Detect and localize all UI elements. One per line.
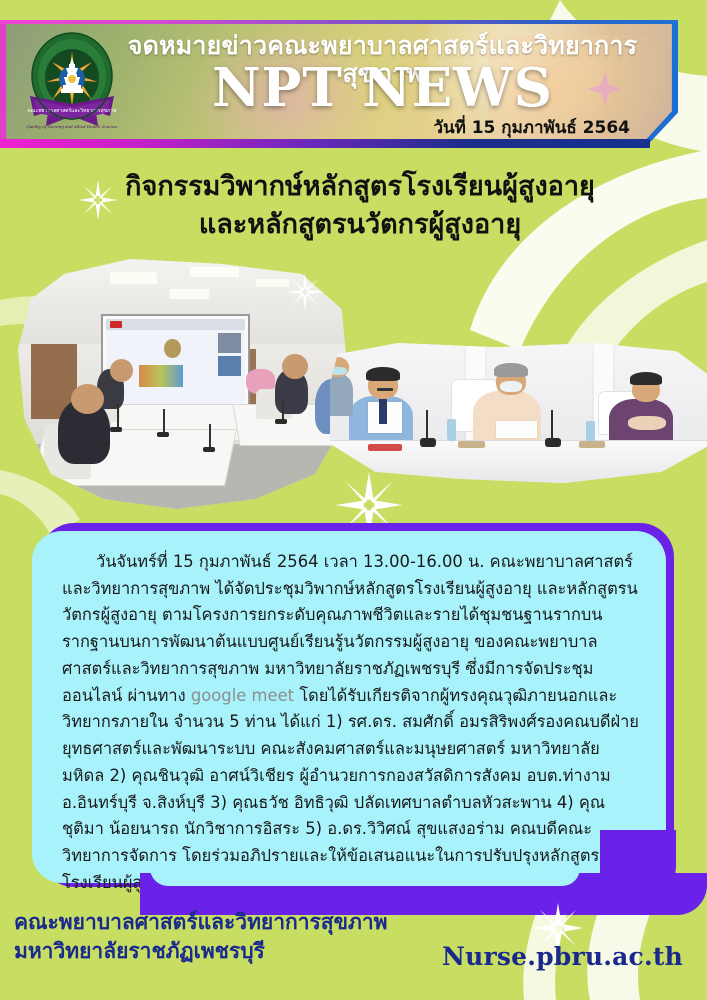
footer-org-line-2: มหาวิทยาลัยราชภัฏเพชรบุรี: [14, 937, 434, 966]
header-title: NPT NEWS: [110, 62, 655, 115]
body-text: วันจันทร์ที่ 15 กุมภาพันธ์ 2564 เวลา 13.…: [62, 549, 640, 897]
header-date: วันที่ 15 กุมภาพันธ์ 2564: [330, 114, 630, 141]
body-text-part-2: โดยได้รับเกียรติจากผู้ทรงคุณวุฒิภายนอกแล…: [62, 686, 639, 892]
footer-organization: คณะพยาบาลศาสตร์และวิทยาการสุขภาพ มหาวิทย…: [14, 908, 434, 966]
page-headline: กิจกรรมวิพากษ์หลักสูตรโรงเรียนผู้สูงอายุ…: [60, 168, 660, 245]
university-seal-logo: คณะพยาบาลศาสตร์และวิทยาการสุขภาพ Quality…: [26, 30, 118, 135]
headline-line-1: กิจกรรมวิพากษ์หลักสูตรโรงเรียนผู้สูงอายุ: [60, 168, 660, 206]
poster-page: คณะพยาบาลศาสตร์และวิทยาการสุขภาพ Quality…: [0, 0, 707, 1000]
starburst-icon-small: [283, 272, 327, 312]
svg-text:คณะพยาบาลศาสตร์และวิทยาการสุขภ: คณะพยาบาลศาสตร์และวิทยาการสุขภาพ: [28, 107, 117, 114]
photo-panelists: [330, 343, 707, 483]
footer-website-url[interactable]: Nurse.pbru.ac.th: [442, 942, 683, 971]
footer-org-line-1: คณะพยาบาลศาสตร์และวิทยาการสุขภาพ: [14, 908, 434, 937]
header-top-strip: [0, 20, 678, 24]
google-meet-mention: google meet: [191, 686, 294, 705]
body-card: วันจันทร์ที่ 15 กุมภาพันธ์ 2564 เวลา 13.…: [32, 531, 666, 883]
headline-line-2: และหลักสูตรนวัตกรผู้สูงอายุ: [60, 206, 660, 244]
body-text-part-1: วันจันทร์ที่ 15 กุมภาพันธ์ 2564 เวลา 13.…: [62, 552, 638, 705]
footer-cyan-tail: [150, 868, 580, 886]
svg-text:Quality of Nursing and Allied: Quality of Nursing and Allied Health Sci…: [26, 124, 118, 129]
